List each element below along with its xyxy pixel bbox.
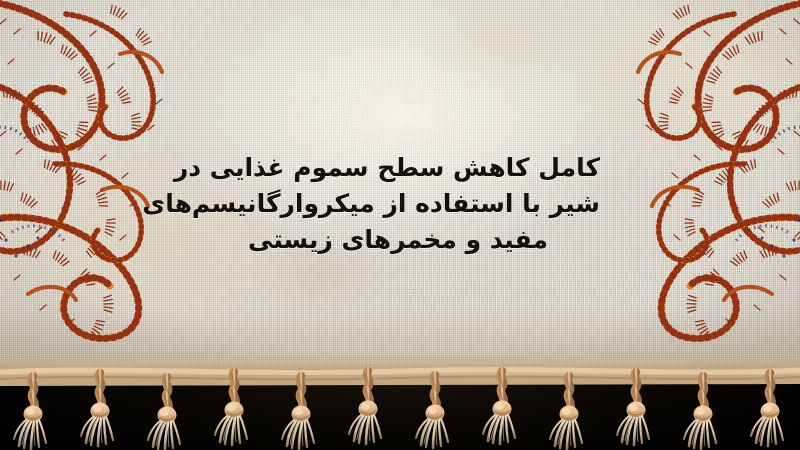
title-line-2: شیر با استفاده از میکروارگانیسم‌های <box>196 186 600 222</box>
slide-canvas: کامل کاهش سطح سموم غذایی در شیر با استفا… <box>0 0 800 450</box>
title-line-3: مفید و مخمرهای زیستی <box>196 222 600 258</box>
title-line-1: کامل کاهش سطح سموم غذایی در <box>196 150 600 186</box>
black-backdrop <box>0 375 800 450</box>
slide-title: کامل کاهش سطح سموم غذایی در شیر با استفا… <box>196 150 600 258</box>
